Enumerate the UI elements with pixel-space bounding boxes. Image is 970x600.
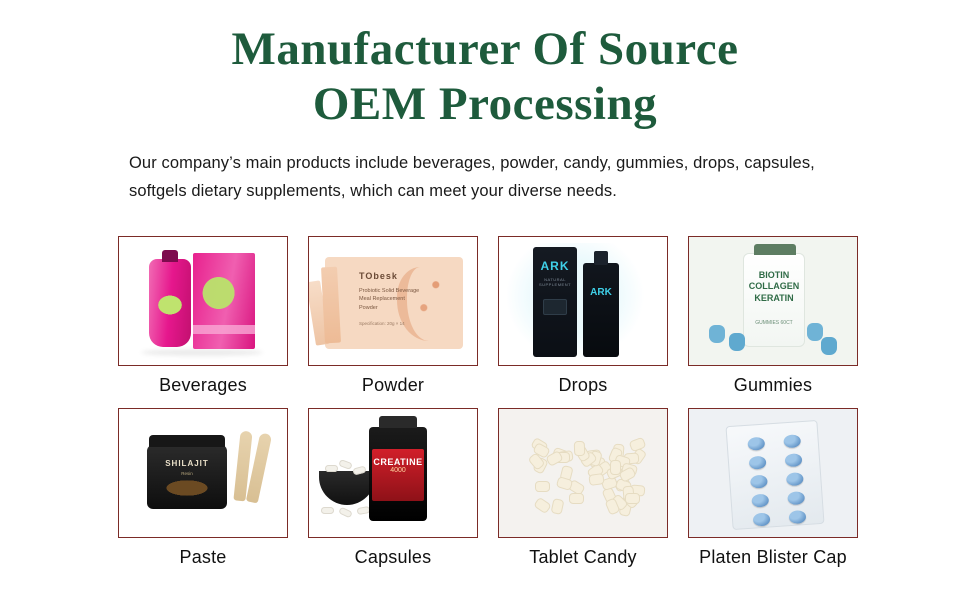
product-grid: Beverages TObesk Probiotic Solid Beverag…	[118, 236, 858, 568]
product-image-blister	[688, 408, 858, 538]
blister-pill	[783, 434, 801, 448]
tablet-piece	[533, 497, 552, 515]
product-image-drops: ARK NATURAL SUPPLEMENT ARK	[498, 236, 668, 366]
product-caption: Powder	[308, 366, 478, 396]
paste-jar-sub: Resin	[147, 471, 227, 476]
tablet-piece	[574, 441, 586, 456]
product-card-capsules[interactable]: CREATINE 4000 Capsules	[308, 408, 478, 568]
blister-pill	[753, 512, 771, 526]
product-card-powder[interactable]: TObesk Probiotic Solid Beverage Meal Rep…	[308, 236, 478, 396]
capsules-bottle-title: CREATINE	[372, 457, 424, 467]
product-card-tablet-candy[interactable]: Tablet Candy	[498, 408, 668, 568]
drops-brand-label: ARK	[533, 259, 577, 273]
capsules-bottle-sub: 4000	[372, 467, 424, 474]
capsules-artwork: CREATINE 4000	[309, 409, 477, 537]
blister-pill	[749, 456, 767, 470]
product-caption: Paste	[118, 538, 288, 568]
product-image-paste: SHILAJIT Resin	[118, 408, 288, 538]
blister-artwork	[689, 409, 857, 537]
product-caption: Capsules	[308, 538, 478, 568]
blister-pill	[787, 491, 805, 505]
gummies-label-sub: GUMMIES 60CT	[748, 320, 800, 326]
product-card-drops[interactable]: ARK NATURAL SUPPLEMENT ARK Drops	[498, 236, 668, 396]
gummies-artwork: BIOTIN COLLAGEN KERATIN GUMMIES 60CT	[689, 237, 857, 365]
paste-artwork: SHILAJIT Resin	[119, 409, 287, 537]
product-image-tablet-candy	[498, 408, 668, 538]
product-image-beverages	[118, 236, 288, 366]
drops-artwork: ARK NATURAL SUPPLEMENT ARK	[499, 237, 667, 365]
page-title-line2: OEM Processing	[0, 77, 970, 132]
tablet-piece	[535, 481, 550, 492]
tablet-piece	[550, 498, 564, 515]
product-image-capsules: CREATINE 4000	[308, 408, 478, 538]
page-title-line1: Manufacturer Of Source	[231, 23, 738, 75]
paste-jar-title: SHILAJIT	[147, 459, 227, 468]
product-card-paste[interactable]: SHILAJIT Resin Paste	[118, 408, 288, 568]
powder-artwork: TObesk Probiotic Solid Beverage Meal Rep…	[309, 237, 477, 365]
product-card-blister[interactable]: Platen Blister Cap	[688, 408, 858, 568]
tablet-candy-artwork	[499, 409, 667, 537]
powder-spec-label: Specification: 20g × 14	[359, 321, 405, 326]
product-image-gummies: BIOTIN COLLAGEN KERATIN GUMMIES 60CT	[688, 236, 858, 366]
drops-brand-sub-label: NATURAL SUPPLEMENT	[533, 277, 577, 287]
product-caption: Tablet Candy	[498, 538, 668, 568]
powder-brand-label: TObesk	[359, 271, 398, 281]
beverages-artwork	[119, 237, 287, 365]
drops-bottle-brand-label: ARK	[583, 287, 619, 298]
blister-pill	[789, 510, 807, 524]
blister-pill	[747, 437, 765, 451]
product-card-beverages[interactable]: Beverages	[118, 236, 288, 396]
product-card-gummies[interactable]: BIOTIN COLLAGEN KERATIN GUMMIES 60CT Gum…	[688, 236, 858, 396]
product-caption: Drops	[498, 366, 668, 396]
product-image-powder: TObesk Probiotic Solid Beverage Meal Rep…	[308, 236, 478, 366]
product-showcase-page: Manufacturer Of Source OEM Processing Ou…	[0, 0, 970, 600]
product-caption: Gummies	[688, 366, 858, 396]
powder-desc-label: Probiotic Solid Beverage Meal Replacemen…	[359, 287, 421, 312]
product-caption: Beverages	[118, 366, 288, 396]
product-caption: Platen Blister Cap	[688, 538, 858, 568]
blister-pill	[786, 472, 804, 486]
intro-paragraph: Our company’s main products include beve…	[129, 149, 841, 205]
blister-pill	[750, 475, 768, 489]
tablet-piece	[625, 492, 640, 503]
tablet-piece	[569, 493, 584, 504]
blister-pill	[751, 494, 769, 508]
blister-pill	[785, 453, 803, 467]
gummies-label: BIOTIN COLLAGEN KERATIN	[748, 270, 800, 304]
page-title: Manufacturer Of Source OEM Processing	[0, 0, 970, 133]
